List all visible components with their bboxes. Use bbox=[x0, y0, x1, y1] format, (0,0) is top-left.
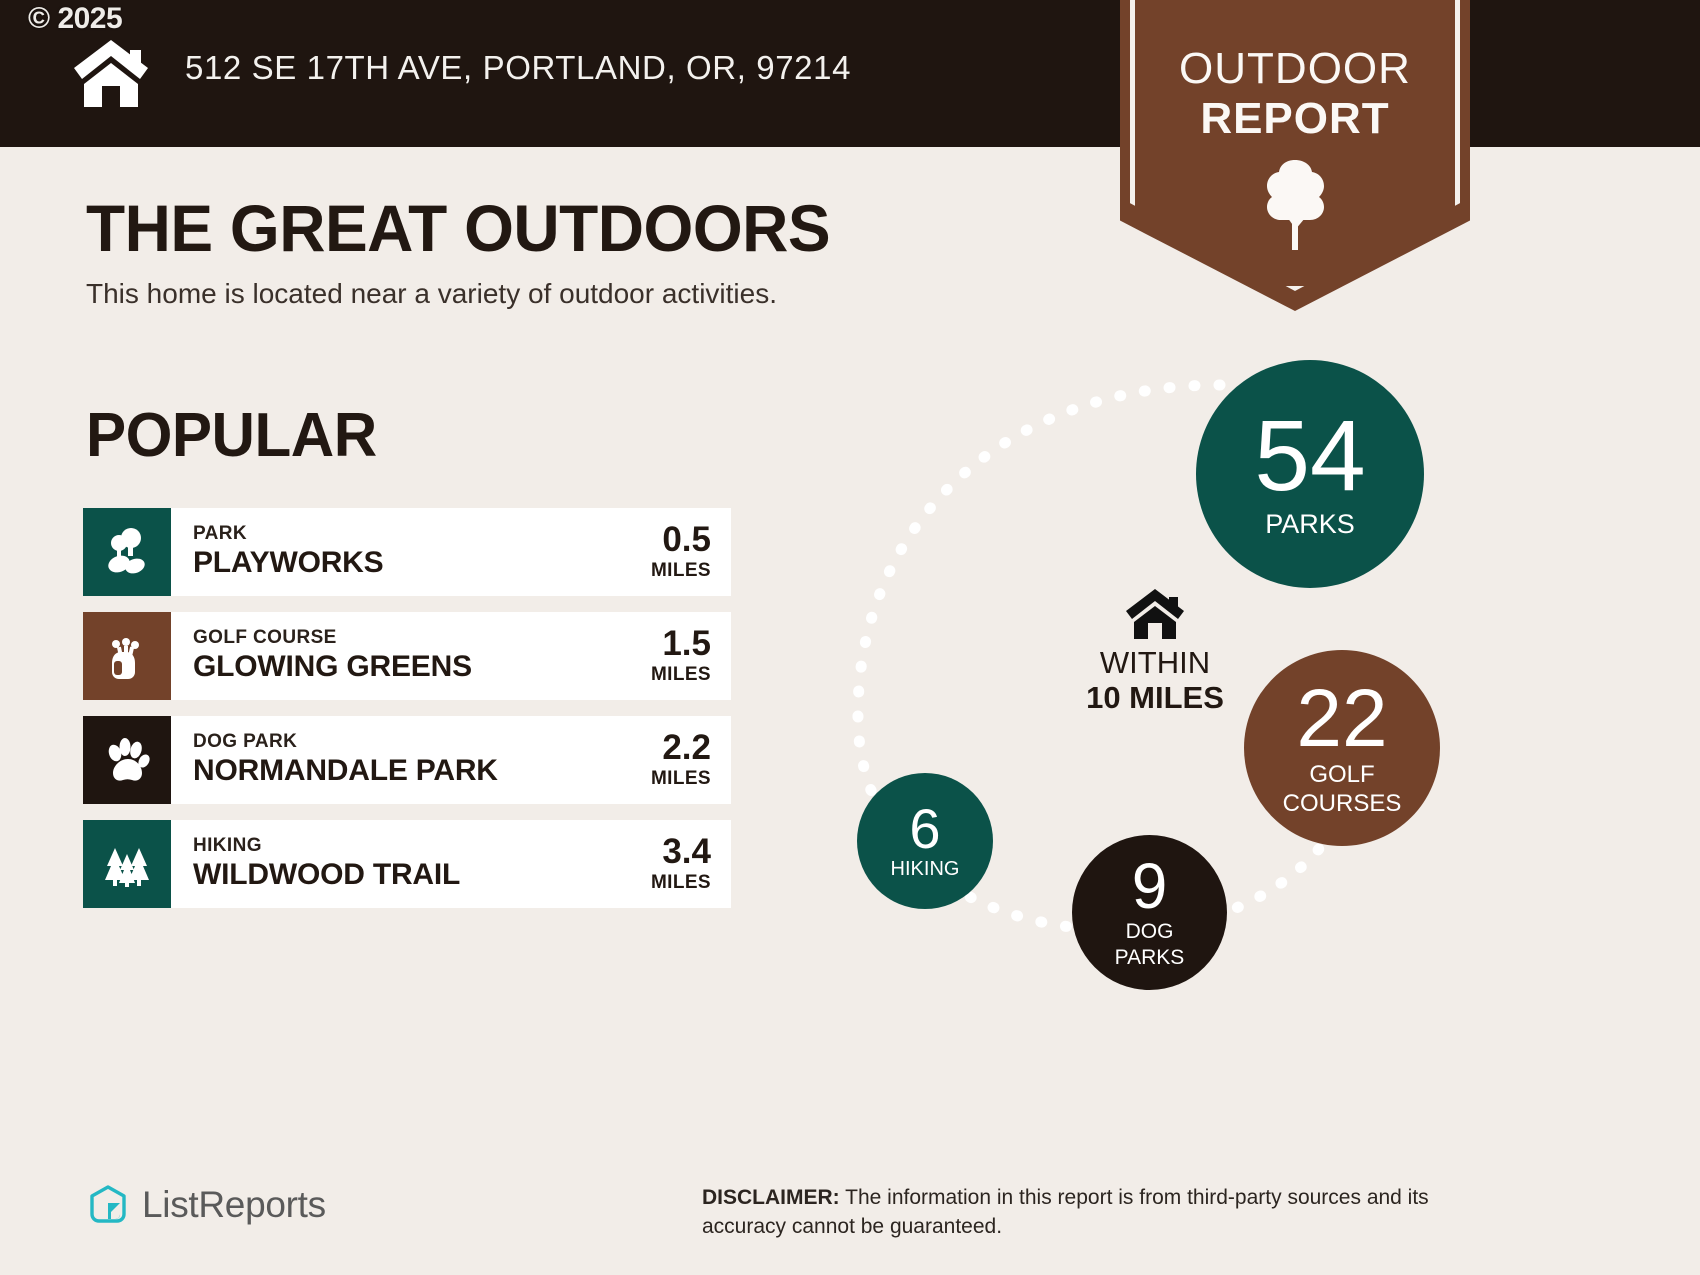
bubble-dog-value: 9 bbox=[1132, 856, 1168, 917]
list-item[interactable]: PARK PLAYWORKS 0.5 MILES bbox=[83, 508, 731, 596]
listreports-logo[interactable]: ListReports bbox=[86, 1183, 326, 1227]
list-item-unit: MILES bbox=[651, 768, 711, 790]
list-item-unit: MILES bbox=[651, 872, 711, 894]
listreports-wordmark: ListReports bbox=[142, 1184, 326, 1226]
list-item-name: NORMANDALE PARK bbox=[193, 754, 621, 789]
property-address: 512 SE 17TH AVE, PORTLAND, OR, 97214 bbox=[185, 49, 851, 87]
popular-section-title: POPULAR bbox=[86, 400, 377, 471]
list-item[interactable]: HIKING WILDWOOD TRAIL 3.4 MILES bbox=[83, 820, 731, 908]
listreports-house-tag-icon bbox=[86, 1183, 130, 1227]
outdoor-report-page: © 2025 512 SE 17TH AVE, PORTLAND, OR, 97… bbox=[0, 0, 1700, 1275]
bubble-hiking-value: 6 bbox=[909, 802, 940, 855]
bubble-dog-label-line1: DOG bbox=[1126, 921, 1174, 943]
golf-bag-icon bbox=[83, 612, 171, 700]
within-line1: WITHIN bbox=[1030, 646, 1280, 681]
home-icon bbox=[72, 38, 150, 108]
list-item[interactable]: DOG PARK NORMANDALE PARK 2.2 MILES bbox=[83, 716, 731, 804]
copyright-text: © 2025 bbox=[28, 2, 122, 36]
list-item-category: PARK bbox=[193, 524, 621, 545]
bubble-parks-label: PARKS bbox=[1265, 510, 1355, 538]
list-item-unit: MILES bbox=[651, 664, 711, 686]
page-subtitle: This home is located near a variety of o… bbox=[86, 278, 777, 310]
list-item-category: DOG PARK bbox=[193, 732, 621, 753]
list-item-distance: 0.5 bbox=[662, 522, 711, 557]
list-item-category: GOLF COURSE bbox=[193, 628, 621, 649]
home-icon bbox=[1124, 588, 1186, 640]
list-item-distance: 1.5 bbox=[662, 626, 711, 661]
park-trees-icon bbox=[83, 508, 171, 596]
paw-print-icon bbox=[83, 716, 171, 804]
pine-trees-icon bbox=[83, 820, 171, 908]
disclaimer: DISCLAIMER: The information in this repo… bbox=[702, 1184, 1502, 1242]
amenity-bubble-chart: 54 PARKS 22 GOLF COURSES 9 DOG PARKS 6 H… bbox=[820, 330, 1500, 1030]
badge-title-line2: REPORT bbox=[1120, 94, 1470, 144]
list-item-distance: 2.2 bbox=[662, 730, 711, 765]
list-item-unit: MILES bbox=[651, 560, 711, 582]
bubble-hiking[interactable]: 6 HIKING bbox=[857, 773, 993, 909]
within-line2: 10 MILES bbox=[1030, 681, 1280, 716]
list-item-name: WILDWOOD TRAIL bbox=[193, 858, 621, 893]
bubble-dog-label-line2: PARKS bbox=[1115, 947, 1185, 969]
bubble-dog-parks[interactable]: 9 DOG PARKS bbox=[1072, 835, 1227, 990]
popular-list: PARK PLAYWORKS 0.5 MILES bbox=[83, 508, 731, 924]
disclaimer-label: DISCLAIMER: bbox=[702, 1186, 840, 1209]
bubble-parks[interactable]: 54 PARKS bbox=[1196, 360, 1424, 588]
bubble-golf-label-line1: GOLF bbox=[1309, 762, 1374, 787]
list-item-name: GLOWING GREENS bbox=[193, 650, 621, 685]
bubble-golf-value: 22 bbox=[1296, 680, 1387, 758]
bubble-hiking-label: HIKING bbox=[891, 859, 960, 880]
bubble-golf-label-line2: COURSES bbox=[1283, 791, 1402, 816]
badge-title-line1: OUTDOOR bbox=[1120, 44, 1470, 94]
list-item-name: PLAYWORKS bbox=[193, 546, 621, 581]
page-title: THE GREAT OUTDOORS bbox=[86, 190, 830, 266]
list-item-distance: 3.4 bbox=[662, 834, 711, 869]
list-item[interactable]: GOLF COURSE GLOWING GREENS 1.5 MILES bbox=[83, 612, 731, 700]
within-radius-label: WITHIN 10 MILES bbox=[1030, 588, 1280, 715]
tree-icon bbox=[1262, 158, 1328, 250]
bubble-parks-value: 54 bbox=[1254, 409, 1365, 504]
list-item-category: HIKING bbox=[193, 836, 621, 857]
